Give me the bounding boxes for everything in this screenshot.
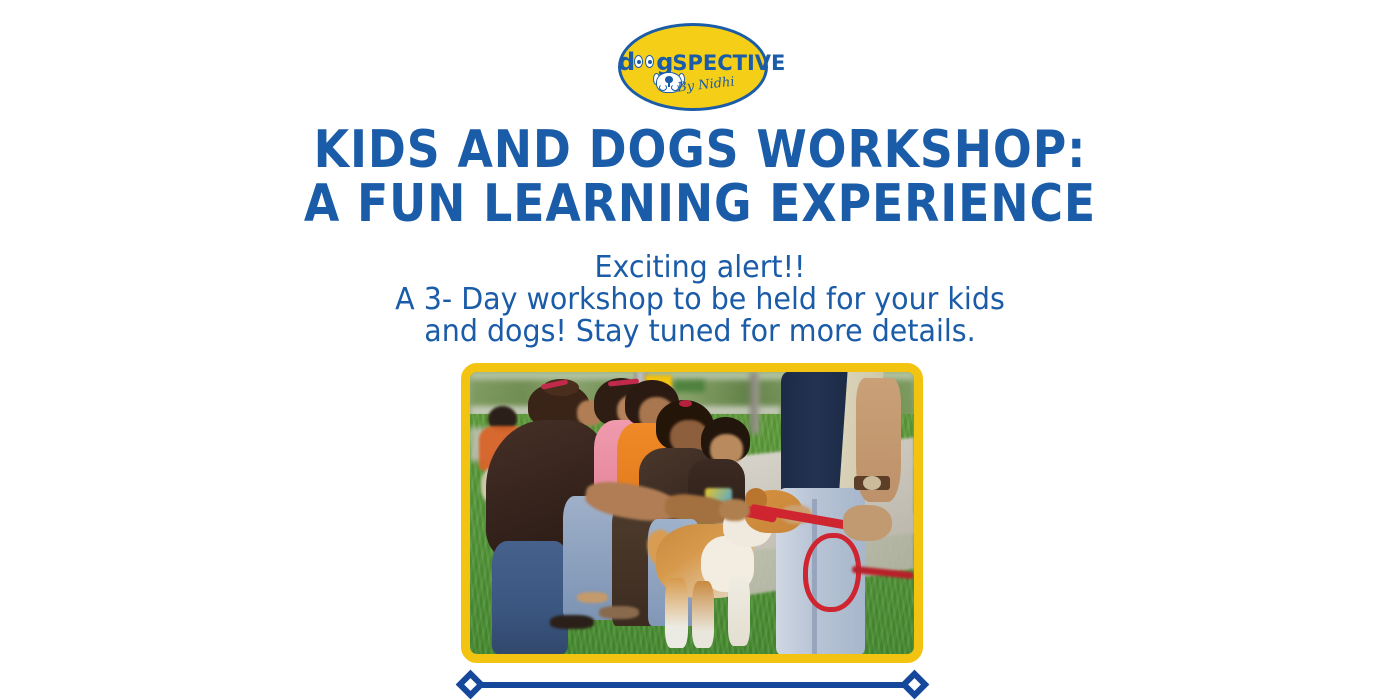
photo-man-hand: [843, 505, 892, 542]
photo-pole-far: [750, 372, 759, 434]
subtext-line-2: A 3- Day workshop to be held for your ki…: [35, 284, 1365, 316]
photo-dog-leg-2: [692, 581, 714, 649]
diamond-icon-left: [456, 670, 486, 700]
subtext-line-3: and dogs! Stay tuned for more details.: [35, 316, 1365, 348]
photo-dog-leg-3: [728, 575, 750, 646]
dog-eye-left-icon: [634, 55, 643, 68]
logo-word-spective: SPECTIVE: [672, 51, 785, 75]
subtext-line-1: Exciting alert!!: [35, 252, 1365, 284]
logo-letter-d: d: [618, 48, 634, 76]
diamond-icon-right: [900, 670, 930, 700]
photo-sandal-3: [577, 592, 608, 603]
announcement-text: Exciting alert!! A 3- Day workshop to be…: [0, 252, 1400, 347]
logo-wordmark: d gSPECTIVE: [618, 50, 768, 74]
photo-girl4-hand: [719, 499, 750, 522]
flyer-canvas: d gSPECTIVE By Nidhi KIDS AND DOGS WORKS…: [0, 0, 1400, 700]
title-line-2: A FUN LEARNING EXPERIENCE: [84, 178, 1316, 232]
photo-image: 45: [470, 372, 914, 654]
dogspective-logo[interactable]: d gSPECTIVE By Nidhi: [618, 23, 768, 111]
photo-sandal-1: [550, 615, 594, 629]
photo-green-sign: [674, 380, 705, 391]
diamond-divider: [460, 674, 925, 696]
dog-eyes-icon: [634, 53, 656, 73]
pupil-right: [648, 60, 652, 64]
photo-dog-leg-1: [665, 578, 687, 649]
photo-sandal-2: [599, 606, 639, 619]
workshop-photo: 45: [461, 363, 923, 663]
dog-eye-right-icon: [645, 55, 654, 68]
divider-line: [470, 682, 915, 688]
title-line-1: KIDS AND DOGS WORKSHOP:: [84, 124, 1316, 178]
page-title: KIDS AND DOGS WORKSHOP: A FUN LEARNING E…: [0, 124, 1400, 231]
pupil-left: [637, 60, 641, 64]
photo-girl1-jeans: [492, 541, 567, 654]
